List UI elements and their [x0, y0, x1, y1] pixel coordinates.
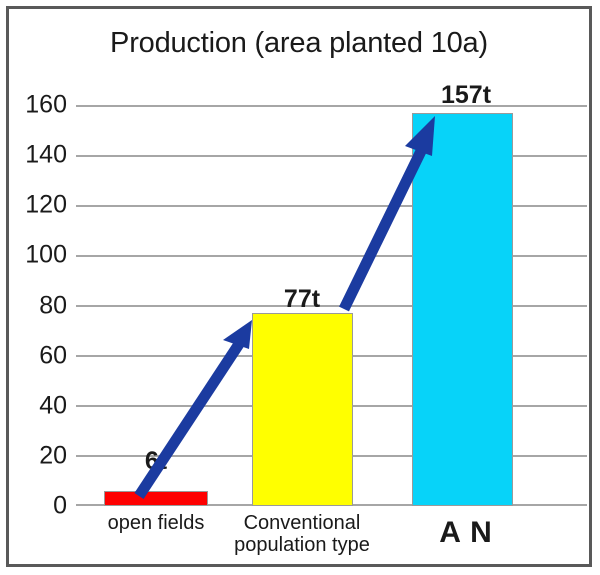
- y-tick-60: 60: [7, 343, 67, 368]
- y-tick-0: 0: [7, 494, 67, 519]
- x-axis-category-labels: open fields Conventional population type…: [76, 512, 587, 568]
- y-tick-160: 160: [7, 93, 67, 118]
- bar-open-fields[interactable]: [104, 491, 208, 506]
- y-tick-120: 120: [7, 193, 67, 218]
- y-tick-140: 140: [7, 143, 67, 168]
- category-label-a-n: A N: [439, 516, 493, 550]
- y-tick-20: 20: [7, 443, 67, 468]
- category-label-conventional-line2: population type: [234, 534, 370, 556]
- bar-value-label-an: 157t: [441, 81, 491, 110]
- chart-frame: Production (area planted 10a) 160 140 12…: [6, 6, 592, 567]
- bar-value-label-conventional: 77t: [284, 285, 320, 314]
- category-label-open-fields: open fields: [108, 512, 205, 534]
- y-axis: 160 140 120 100 80 60 40 20 0: [9, 105, 67, 506]
- gridline-160: [76, 105, 587, 107]
- category-label-conventional-line1: Conventional: [234, 512, 370, 534]
- bar-a-n[interactable]: [412, 113, 513, 506]
- bar-value-label-open-fields: 6t: [145, 447, 167, 476]
- bar-conventional-population-type[interactable]: [252, 313, 353, 506]
- category-label-open-fields-line1: open fields: [108, 512, 205, 534]
- plot-area: 6t 77t 157t: [76, 105, 587, 506]
- category-label-conventional: Conventional population type: [234, 512, 370, 557]
- chart-title: Production (area planted 10a): [9, 27, 589, 60]
- category-label-a-n-line1: A N: [439, 516, 493, 550]
- y-tick-40: 40: [7, 393, 67, 418]
- y-tick-80: 80: [7, 293, 67, 318]
- y-tick-100: 100: [7, 243, 67, 268]
